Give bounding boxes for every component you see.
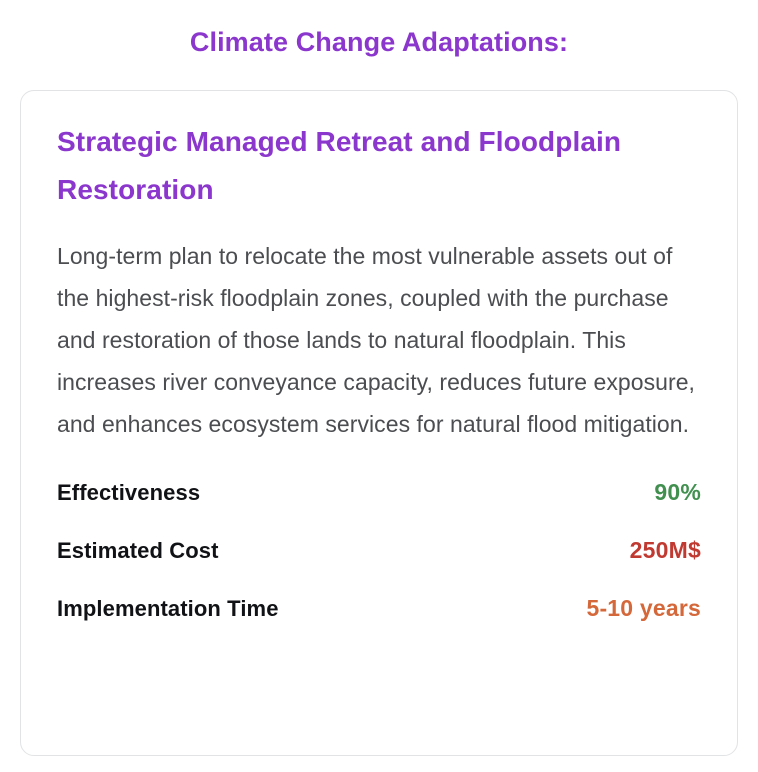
adaptation-title: Strategic Managed Retreat and Floodplain… xyxy=(57,118,701,214)
metric-value-estimated-cost: 250M$ xyxy=(630,537,701,564)
metric-label-implementation-time: Implementation Time xyxy=(57,596,279,622)
page-title: Climate Change Adaptations: xyxy=(0,0,758,56)
page-root: Climate Change Adaptations: Strategic Ma… xyxy=(0,0,758,772)
metric-label-effectiveness: Effectiveness xyxy=(57,480,200,506)
metric-value-effectiveness: 90% xyxy=(654,479,701,506)
adaptation-card: Strategic Managed Retreat and Floodplain… xyxy=(20,90,738,756)
adaptation-description: Long-term plan to relocate the most vuln… xyxy=(57,235,701,445)
metrics-list: Effectiveness 90% Estimated Cost 250M$ I… xyxy=(57,479,701,653)
metric-row: Effectiveness 90% xyxy=(57,479,701,537)
metric-row: Implementation Time 5-10 years xyxy=(57,595,701,653)
metric-label-estimated-cost: Estimated Cost xyxy=(57,538,219,564)
metric-row: Estimated Cost 250M$ xyxy=(57,537,701,595)
metric-value-implementation-time: 5-10 years xyxy=(586,595,701,622)
adaptation-card-body: Strategic Managed Retreat and Floodplain… xyxy=(21,91,737,653)
